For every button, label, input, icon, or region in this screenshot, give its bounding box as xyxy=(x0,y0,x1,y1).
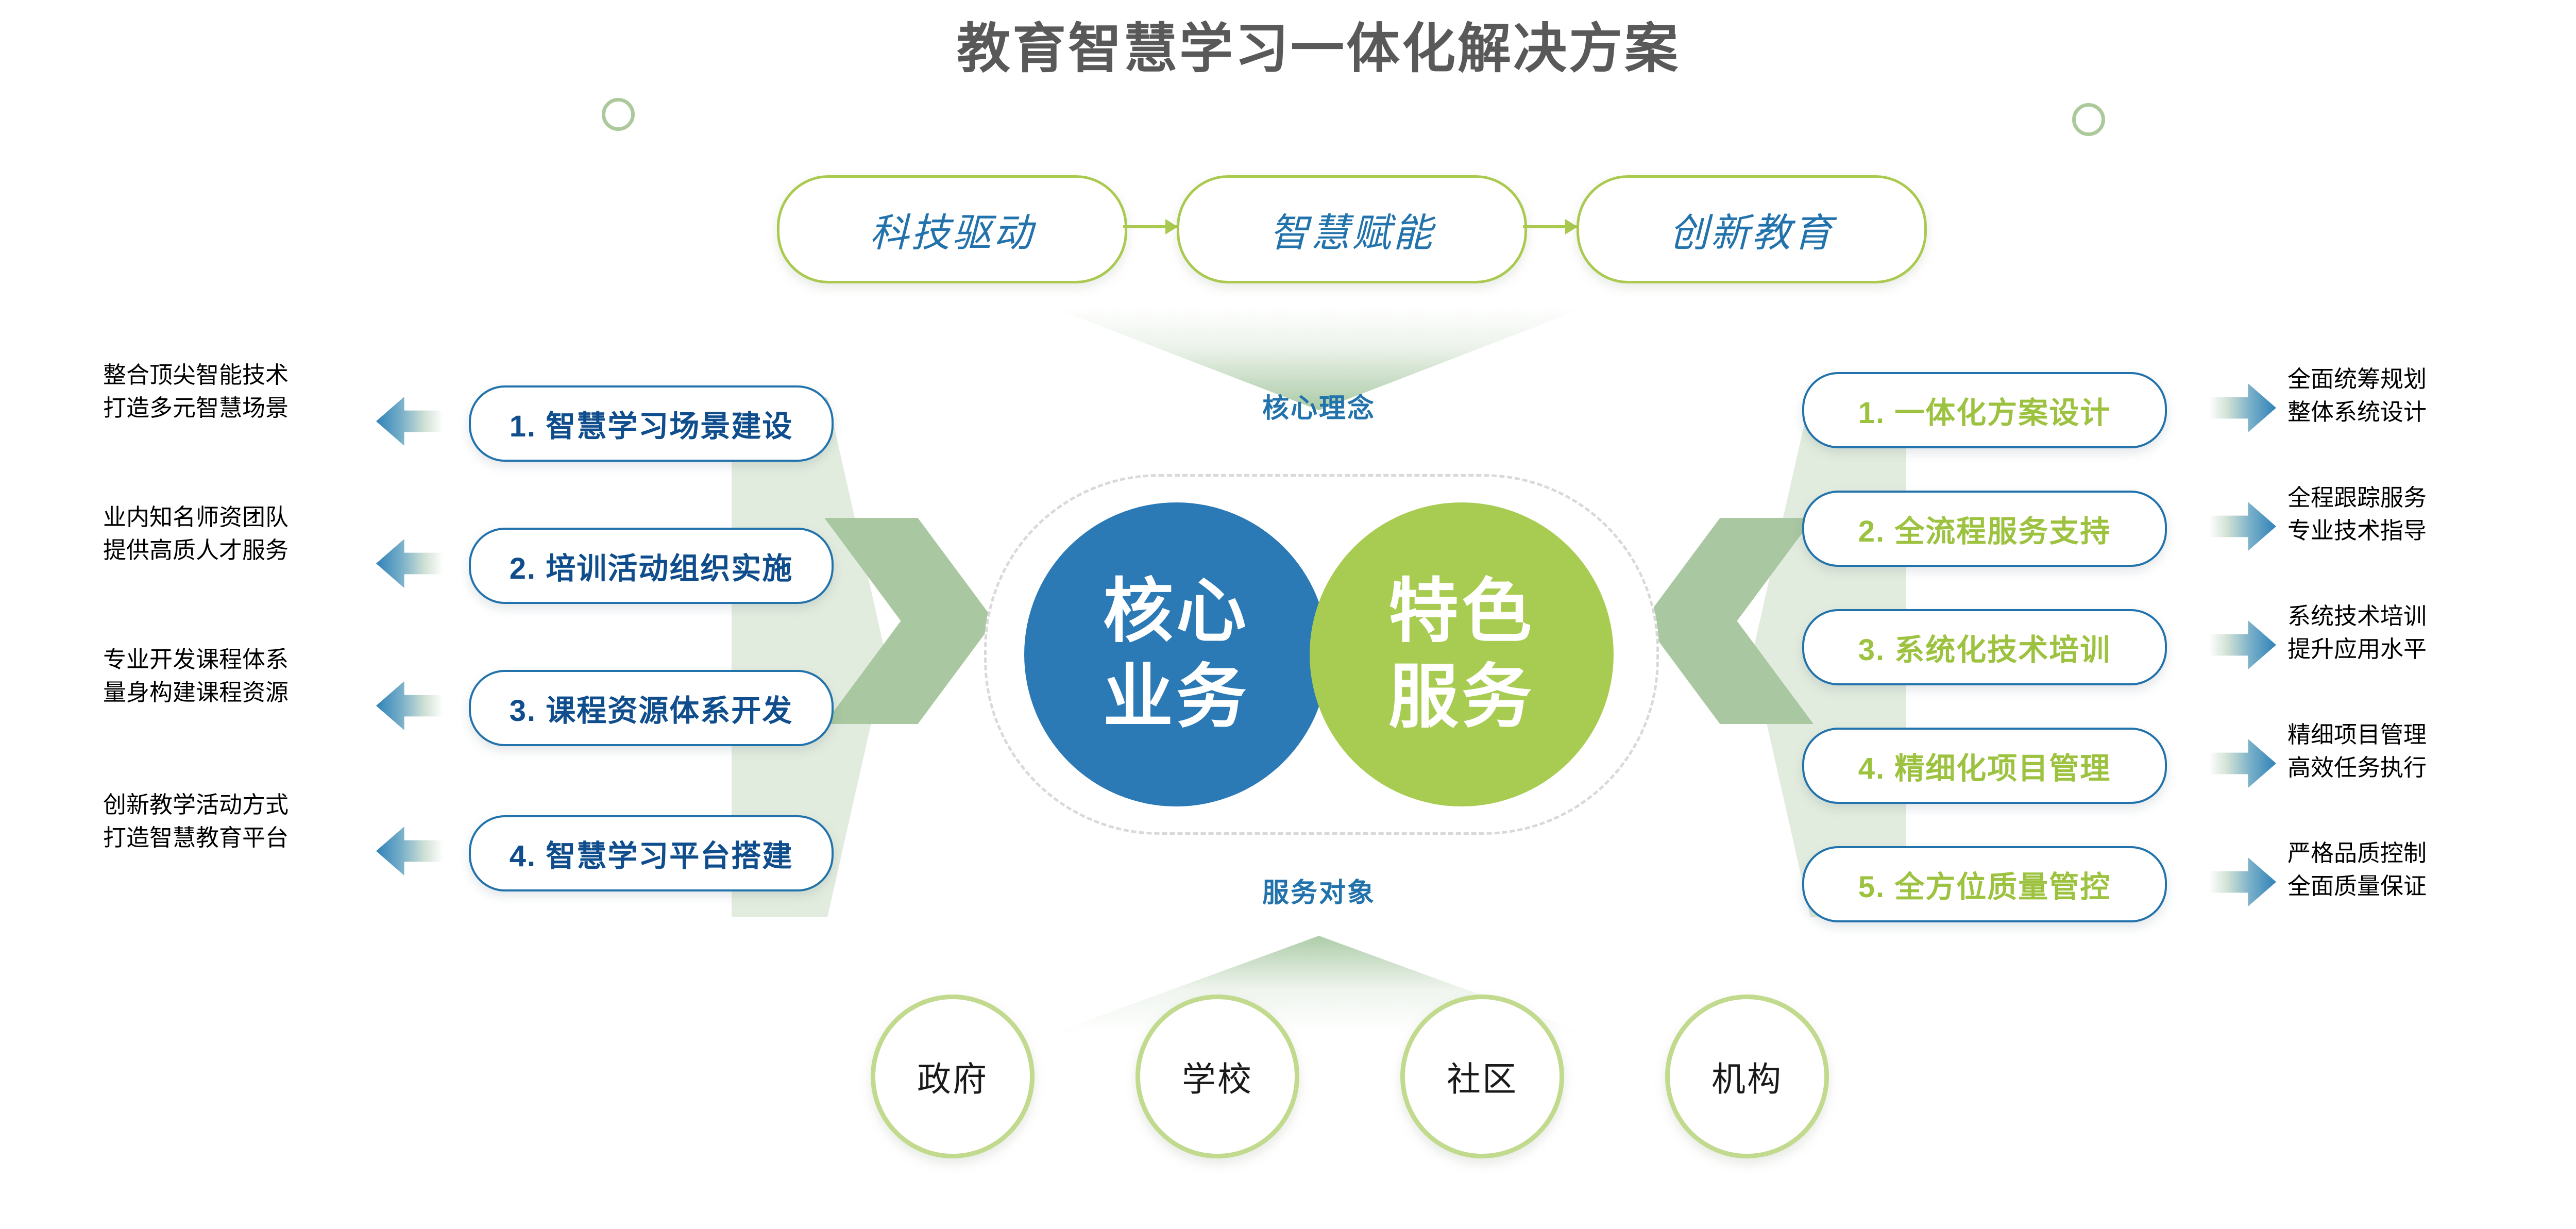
arrow-right-icon xyxy=(2209,857,2276,906)
right-caption-3-line2: 提升应用水平 xyxy=(2287,633,2576,666)
audience-circle-government[interactable]: 政府 xyxy=(871,995,1035,1158)
left-caption-4-line1: 创新教学活动方式 xyxy=(103,788,392,821)
right-caption-4-line2: 高效任务执行 xyxy=(2287,751,2576,784)
left-caption-4-line2: 打造智慧教育平台 xyxy=(103,821,392,854)
page-title: 教育智慧学习一体化解决方案 xyxy=(0,15,2576,82)
right-caption-5-line1: 严格品质控制 xyxy=(2287,837,2576,870)
audience-circle-label: 社区 xyxy=(1447,1052,1518,1101)
audience-circle-label: 政府 xyxy=(917,1052,988,1101)
left-caption-1-line2: 打造多元智慧场景 xyxy=(103,392,392,425)
right-item-pill-2[interactable]: 2. 全流程服务支持 xyxy=(1802,491,2167,567)
decorative-ring-icon xyxy=(2072,103,2105,136)
arrow-right-icon xyxy=(2209,620,2276,669)
right-caption-2-line1: 全程跟踪服务 xyxy=(2287,481,2576,514)
right-caption-5-line2: 全面质量保证 xyxy=(2287,870,2576,903)
audience-circle-institution[interactable]: 机构 xyxy=(1665,995,1829,1158)
concept-pill-technology[interactable]: 科技驱动 xyxy=(777,175,1127,283)
left-caption-2: 业内知名师资团队 提供高质人才服务 xyxy=(103,501,392,567)
left-caption-1: 整合顶尖智能技术 打造多元智慧场景 xyxy=(103,359,392,425)
concept-pill-label: 创新教育 xyxy=(1669,201,1834,258)
right-caption-4: 精细项目管理 高效任务执行 xyxy=(2287,718,2576,784)
left-item-pill-2[interactable]: 2. 培训活动组织实施 xyxy=(469,528,834,604)
left-caption-2-line1: 业内知名师资团队 xyxy=(103,501,392,534)
right-item-pill-2-label: 2. 全流程服务支持 xyxy=(1858,507,2111,550)
left-caption-3-line1: 专业开发课程体系 xyxy=(103,643,392,676)
right-item-pill-4-label: 4. 精细化项目管理 xyxy=(1858,744,2111,787)
arrow-right-icon xyxy=(2209,502,2276,551)
core-circle-business-line2: 业务 xyxy=(1103,654,1249,740)
concept-pill-label: 科技驱动 xyxy=(870,201,1035,258)
concept-pill-label: 智慧赋能 xyxy=(1269,201,1434,258)
left-caption-1-line1: 整合顶尖智能技术 xyxy=(103,359,392,392)
concept-connector-arrow-icon xyxy=(1523,225,1577,228)
right-item-pill-4[interactable]: 4. 精细化项目管理 xyxy=(1802,728,2167,804)
audience-circle-school[interactable]: 学校 xyxy=(1136,995,1299,1158)
audience-circle-community[interactable]: 社区 xyxy=(1400,995,1564,1158)
right-caption-2-line2: 专业技术指导 xyxy=(2287,514,2576,547)
arrow-right-icon xyxy=(2209,383,2276,432)
core-circle-service-line2: 服务 xyxy=(1388,654,1535,740)
left-item-pill-3[interactable]: 3. 课程资源体系开发 xyxy=(469,670,834,746)
left-item-pill-1[interactable]: 1. 智慧学习场景建设 xyxy=(469,385,834,462)
right-caption-3: 系统技术培训 提升应用水平 xyxy=(2287,600,2576,666)
right-item-pill-3[interactable]: 3. 系统化技术培训 xyxy=(1802,609,2167,685)
left-caption-3-line2: 量身构建课程资源 xyxy=(103,676,392,709)
right-item-pill-1-label: 1. 一体化方案设计 xyxy=(1858,389,2111,432)
left-caption-3: 专业开发课程体系 量身构建课程资源 xyxy=(103,643,392,709)
arrow-right-icon xyxy=(2209,739,2276,788)
left-item-pill-1-label: 1. 智慧学习场景建设 xyxy=(510,402,793,445)
right-caption-2: 全程跟踪服务 专业技术指导 xyxy=(2287,481,2576,547)
left-item-pill-3-label: 3. 课程资源体系开发 xyxy=(510,686,793,730)
core-circle-business-line1: 核心 xyxy=(1103,569,1249,654)
right-caption-5: 严格品质控制 全面质量保证 xyxy=(2287,837,2576,903)
right-caption-4-line1: 精细项目管理 xyxy=(2287,718,2576,751)
core-circle-service-line1: 特色 xyxy=(1388,569,1535,654)
right-caption-1: 全面统筹规划 整体系统设计 xyxy=(2287,363,2576,429)
left-caption-2-line2: 提供高质人才服务 xyxy=(103,534,392,567)
concept-pill-empowerment[interactable]: 智慧赋能 xyxy=(1177,175,1527,283)
right-item-pill-3-label: 3. 系统化技术培训 xyxy=(1858,626,2111,669)
concept-pill-innovation[interactable]: 创新教育 xyxy=(1577,175,1927,283)
core-circle-service[interactable]: 特色 服务 xyxy=(1310,502,1614,806)
left-item-pill-4[interactable]: 4. 智慧学习平台搭建 xyxy=(469,815,834,891)
left-item-pill-2-label: 2. 培训活动组织实施 xyxy=(510,544,793,587)
right-item-pill-5-label: 5. 全方位质量管控 xyxy=(1858,863,2111,906)
audience-circle-label: 机构 xyxy=(1711,1052,1783,1101)
right-caption-3-line1: 系统技术培训 xyxy=(2287,600,2576,633)
concept-connector-arrow-icon xyxy=(1123,225,1177,228)
center-label-service-audience: 服务对象 xyxy=(1128,871,1510,910)
core-circle-business[interactable]: 核心 业务 xyxy=(1024,502,1328,806)
left-item-pill-4-label: 4. 智慧学习平台搭建 xyxy=(510,832,793,875)
decorative-ring-icon xyxy=(602,98,635,131)
center-label-core-concept: 核心理念 xyxy=(1128,386,1510,425)
right-item-pill-5[interactable]: 5. 全方位质量管控 xyxy=(1802,846,2167,922)
right-caption-1-line1: 全面统筹规划 xyxy=(2287,363,2576,396)
infographic-canvas: 教育智慧学习一体化解决方案 科技驱动 智慧赋能 创新教育 核心理念 核心 业务 … xyxy=(0,0,2576,1229)
audience-circle-label: 学校 xyxy=(1182,1052,1253,1101)
right-item-pill-1[interactable]: 1. 一体化方案设计 xyxy=(1802,372,2167,448)
right-caption-1-line2: 整体系统设计 xyxy=(2287,396,2576,429)
left-caption-4: 创新教学活动方式 打造智慧教育平台 xyxy=(103,788,392,854)
